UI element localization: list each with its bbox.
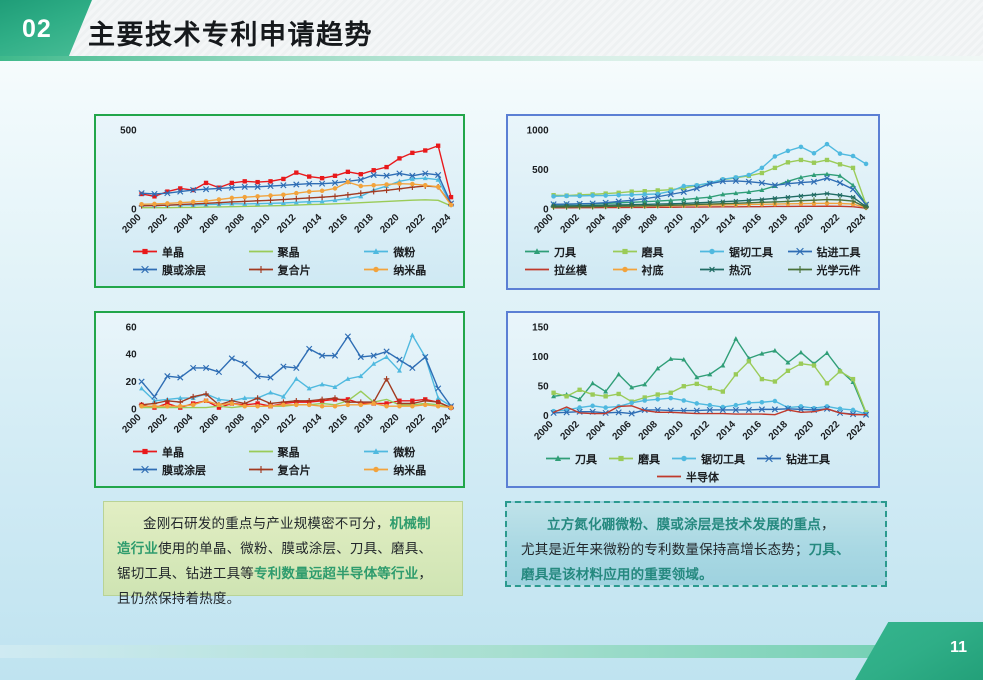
svg-text:2008: 2008: [637, 212, 661, 236]
legend-item-钻进工具[interactable]: 钻进工具: [781, 244, 869, 260]
钻进工具-legend-swatch-icon: [787, 246, 813, 257]
单晶-legend-swatch-icon: [132, 246, 158, 257]
svg-text:500: 500: [532, 165, 549, 176]
legend-item-锯切工具[interactable]: 锯切工具: [671, 451, 745, 467]
微粉-legend-swatch-icon: [363, 446, 389, 457]
svg-text:2000: 2000: [532, 419, 556, 443]
svg-text:2016: 2016: [327, 212, 351, 236]
svg-text:40: 40: [126, 350, 137, 361]
svg-text:2000: 2000: [120, 212, 144, 236]
svg-text:2010: 2010: [249, 212, 273, 236]
note-left-line-4: 且仍然保持着热度。: [117, 586, 449, 611]
page-header: 02 主要技术专利申请趋势: [0, 0, 983, 60]
半导体-legend-swatch-icon: [656, 471, 682, 482]
svg-text:2014: 2014: [715, 419, 739, 443]
svg-text:2024: 2024: [430, 212, 454, 236]
纳米晶-legend-swatch-icon: [363, 464, 389, 475]
svg-text:2016: 2016: [741, 419, 765, 443]
legend-label: 半导体: [686, 469, 719, 485]
legend-label: 聚晶: [278, 244, 300, 260]
svg-text:2012: 2012: [689, 212, 713, 236]
svg-text:2020: 2020: [793, 419, 817, 443]
legend-label: 钻进工具: [786, 451, 830, 467]
note-left-line-1: 金刚石研发的重点与产业规模密不可分，机械制: [117, 511, 449, 536]
line-plot-cbn-overall: 0204060200020022004200620082010201220142…: [104, 319, 455, 443]
plot-area-diamond-applications: 0500100020002002200420062008201020122014…: [516, 122, 870, 243]
page-number: 11: [950, 639, 967, 657]
svg-text:2012: 2012: [689, 419, 713, 443]
svg-text:1000: 1000: [527, 125, 549, 136]
svg-text:2002: 2002: [146, 412, 170, 436]
svg-text:2018: 2018: [767, 212, 791, 236]
legend-label: 聚晶: [278, 444, 300, 460]
svg-text:2008: 2008: [224, 412, 248, 436]
legend-label: 复合片: [278, 262, 311, 278]
note-left-line-2: 造行业使用的单晶、微粉、膜或涂层、刀具、磨具、: [117, 536, 449, 561]
拉丝模-legend-swatch-icon: [524, 264, 550, 275]
plot-area-cbn-applications: 0501001502000200220042006200820102012201…: [516, 319, 870, 450]
svg-text:20: 20: [126, 377, 137, 388]
膜或涂层-legend-swatch-icon: [132, 464, 158, 475]
svg-text:2022: 2022: [404, 212, 428, 236]
legend-label: 锯切工具: [729, 244, 773, 260]
svg-text:2012: 2012: [275, 212, 299, 236]
svg-text:2024: 2024: [845, 212, 869, 236]
note-box-diamond: 金刚石研发的重点与产业规模密不可分，机械制 造行业使用的单晶、微粉、膜或涂层、刀…: [103, 501, 463, 596]
legend-label: 刀具: [575, 451, 597, 467]
svg-text:2022: 2022: [404, 412, 428, 436]
legend-item-半导体[interactable]: 半导体: [656, 469, 719, 485]
svg-text:2004: 2004: [172, 212, 196, 236]
line-plot-cbn-applications: 0501001502000200220042006200820102012201…: [516, 319, 870, 450]
svg-text:2020: 2020: [378, 212, 402, 236]
复合片-legend-swatch-icon: [248, 264, 274, 275]
钻进工具-legend-swatch-icon: [756, 453, 782, 464]
微粉-legend-swatch-icon: [363, 246, 389, 257]
legend-item-刀具[interactable]: 刀具: [518, 244, 606, 260]
legend-item-微粉[interactable]: 微粉: [337, 444, 453, 460]
section-number: 02: [22, 15, 52, 44]
聚晶-legend-swatch-icon: [248, 446, 274, 457]
svg-text:2012: 2012: [275, 412, 299, 436]
svg-text:2010: 2010: [663, 419, 687, 443]
legend-label: 纳米晶: [393, 462, 426, 478]
legend-item-单晶[interactable]: 单晶: [106, 244, 222, 260]
svg-text:2018: 2018: [767, 419, 791, 443]
复合片-legend-swatch-icon: [248, 464, 274, 475]
svg-text:2024: 2024: [845, 419, 869, 443]
legend-label: 微粉: [393, 244, 415, 260]
刀具-legend-swatch-icon: [545, 453, 571, 464]
line-plot-diamond-overall: 0500200020022004200620082010201220142016…: [104, 122, 455, 243]
svg-text:2004: 2004: [584, 419, 608, 443]
note-right-line-1: 立方氮化硼微粉、膜或涂层是技术发展的重点，: [521, 512, 871, 537]
热沉-legend-swatch-icon: [699, 264, 725, 275]
section-badge: 02: [0, 0, 92, 58]
legend-label: 磨具: [638, 451, 660, 467]
legend-label: 膜或涂层: [162, 462, 206, 478]
svg-text:150: 150: [532, 322, 549, 333]
legend-label: 拉丝模: [554, 262, 587, 278]
svg-text:2006: 2006: [198, 412, 222, 436]
legend-item-锯切工具[interactable]: 锯切工具: [693, 244, 781, 260]
svg-text:2022: 2022: [819, 212, 843, 236]
legend-label: 衬底: [642, 262, 664, 278]
note-left-text-1a: 金刚石研发的重点与产业规模密不可分，: [117, 516, 390, 531]
plot-area-cbn-overall: 0204060200020022004200620082010201220142…: [104, 319, 455, 443]
legend-item-热沉[interactable]: 热沉: [693, 262, 781, 278]
note-right-text-2a: 尤其是近年来微粉的专利数量保持高增长态势；: [521, 542, 809, 557]
svg-text:2022: 2022: [819, 419, 843, 443]
膜或涂层-legend-swatch-icon: [132, 264, 158, 275]
chart-diamond-applications: 0500100020002002200420062008201020122014…: [506, 114, 880, 290]
legend-item-磨具[interactable]: 磨具: [608, 451, 660, 467]
svg-text:2008: 2008: [224, 212, 248, 236]
svg-text:2006: 2006: [611, 212, 635, 236]
svg-text:100: 100: [532, 352, 549, 363]
svg-text:2014: 2014: [301, 412, 325, 436]
note-box-cbn: 立方氮化硼微粉、膜或涂层是技术发展的重点， 尤其是近年来微粉的专利数量保持高增长…: [505, 501, 887, 587]
legend-cbn-overall: 单晶聚晶微粉膜或涂层复合片纳米晶: [104, 443, 455, 478]
chart-cbn-applications: 0501001502000200220042006200820102012201…: [506, 311, 880, 488]
legend-label: 光学元件: [817, 262, 861, 278]
svg-text:500: 500: [120, 125, 137, 136]
note-right-text-1-tail: ，: [821, 517, 835, 532]
note-left-highlight-2a: 造行业: [117, 541, 158, 556]
legend-label: 钻进工具: [817, 244, 861, 260]
legend-label: 复合片: [278, 462, 311, 478]
legend-item-衬底[interactable]: 衬底: [606, 262, 694, 278]
svg-text:2016: 2016: [741, 212, 765, 236]
note-right-highlight-1: 立方氮化硼微粉、膜或涂层是技术发展的重点: [521, 517, 821, 532]
svg-text:2008: 2008: [637, 419, 661, 443]
legend-item-膜或涂层[interactable]: 膜或涂层: [106, 462, 222, 478]
磨具-legend-swatch-icon: [612, 246, 638, 257]
svg-text:2002: 2002: [558, 419, 582, 443]
legend-item-光学元件[interactable]: 光学元件: [781, 262, 869, 278]
刀具-legend-swatch-icon: [524, 246, 550, 257]
footer-page-tab: 11: [855, 622, 983, 680]
legend-item-磨具[interactable]: 磨具: [606, 244, 694, 260]
legend-label: 磨具: [642, 244, 664, 260]
svg-text:2020: 2020: [793, 212, 817, 236]
聚晶-legend-swatch-icon: [248, 246, 274, 257]
legend-cbn-applications: 刀具磨具锯切工具钻进工具半导体: [516, 450, 870, 485]
legend-diamond-overall: 单晶聚晶微粉膜或涂层复合片纳米晶: [104, 243, 455, 278]
svg-text:2014: 2014: [301, 212, 325, 236]
note-right-highlight-2b: 刀具、: [809, 542, 850, 557]
legend-label: 刀具: [554, 244, 576, 260]
legend-item-拉丝模[interactable]: 拉丝模: [518, 262, 606, 278]
legend-item-单晶[interactable]: 单晶: [106, 444, 222, 460]
line-plot-diamond-applications: 0500100020002002200420062008201020122014…: [516, 122, 870, 243]
footer-bar: [0, 645, 913, 658]
note-left-text-3a: 锯切工具、钻进工具等: [117, 566, 254, 581]
衬底-legend-swatch-icon: [612, 264, 638, 275]
note-right-line-2: 尤其是近年来微粉的专利数量保持高增长态势；刀具、: [521, 537, 871, 562]
svg-text:50: 50: [538, 382, 549, 393]
legend-item-聚晶[interactable]: 聚晶: [222, 444, 338, 460]
note-left-highlight-3b: 专利数量远超半导体等行业: [254, 566, 418, 581]
legend-item-膜或涂层[interactable]: 膜或涂层: [106, 262, 222, 278]
legend-label: 单晶: [162, 444, 184, 460]
legend-label: 微粉: [393, 444, 415, 460]
svg-text:2018: 2018: [352, 412, 376, 436]
plot-area-diamond-overall: 0500200020022004200620082010201220142016…: [104, 122, 455, 243]
svg-text:2002: 2002: [558, 212, 582, 236]
note-left-text-2b: 使用的单晶、微粉、膜或涂层、刀具、磨具、: [158, 541, 432, 556]
svg-text:2018: 2018: [352, 212, 376, 236]
svg-text:2010: 2010: [663, 212, 687, 236]
svg-text:2002: 2002: [146, 212, 170, 236]
光学元件-legend-swatch-icon: [787, 264, 813, 275]
legend-diamond-applications: 刀具磨具锯切工具钻进工具拉丝模衬底热沉光学元件: [516, 243, 870, 278]
legend-item-复合片[interactable]: 复合片: [222, 462, 338, 478]
锯切工具-legend-swatch-icon: [699, 246, 725, 257]
纳米晶-legend-swatch-icon: [363, 264, 389, 275]
legend-item-钻进工具[interactable]: 钻进工具: [756, 451, 830, 467]
note-left-highlight-1b: 机械制: [390, 516, 431, 531]
legend-label: 膜或涂层: [162, 262, 206, 278]
legend-item-刀具[interactable]: 刀具: [545, 451, 597, 467]
svg-text:2024: 2024: [430, 412, 454, 436]
legend-label: 单晶: [162, 244, 184, 260]
legend-item-复合片[interactable]: 复合片: [222, 262, 338, 278]
header-accent-strip: [0, 56, 983, 61]
svg-text:2010: 2010: [249, 412, 273, 436]
chart-cbn-overall: 0204060200020022004200620082010201220142…: [94, 311, 465, 488]
单晶-legend-swatch-icon: [132, 446, 158, 457]
svg-text:2000: 2000: [532, 212, 556, 236]
legend-item-纳米晶[interactable]: 纳米晶: [337, 262, 453, 278]
page-title: 主要技术专利申请趋势: [88, 13, 373, 52]
svg-text:2006: 2006: [198, 212, 222, 236]
note-left-text-3c: ，: [418, 566, 432, 581]
svg-text:2004: 2004: [584, 212, 608, 236]
legend-item-微粉[interactable]: 微粉: [337, 244, 453, 260]
锯切工具-legend-swatch-icon: [671, 453, 697, 464]
legend-item-纳米晶[interactable]: 纳米晶: [337, 462, 453, 478]
note-left-line-3: 锯切工具、钻进工具等专利数量远超半导体等行业，: [117, 561, 449, 586]
svg-text:2020: 2020: [378, 412, 402, 436]
svg-text:60: 60: [126, 322, 137, 333]
svg-text:2004: 2004: [172, 412, 196, 436]
legend-label: 热沉: [729, 262, 751, 278]
svg-text:2006: 2006: [611, 419, 635, 443]
note-right-line-3: 磨具是该材料应用的重要领域。: [521, 562, 871, 587]
磨具-legend-swatch-icon: [608, 453, 634, 464]
legend-item-聚晶[interactable]: 聚晶: [222, 244, 338, 260]
svg-text:2014: 2014: [715, 212, 739, 236]
legend-label: 纳米晶: [393, 262, 426, 278]
svg-text:2000: 2000: [120, 412, 144, 436]
legend-label: 锯切工具: [701, 451, 745, 467]
chart-diamond-overall: 0500200020022004200620082010201220142016…: [94, 114, 465, 288]
svg-text:2016: 2016: [327, 412, 351, 436]
